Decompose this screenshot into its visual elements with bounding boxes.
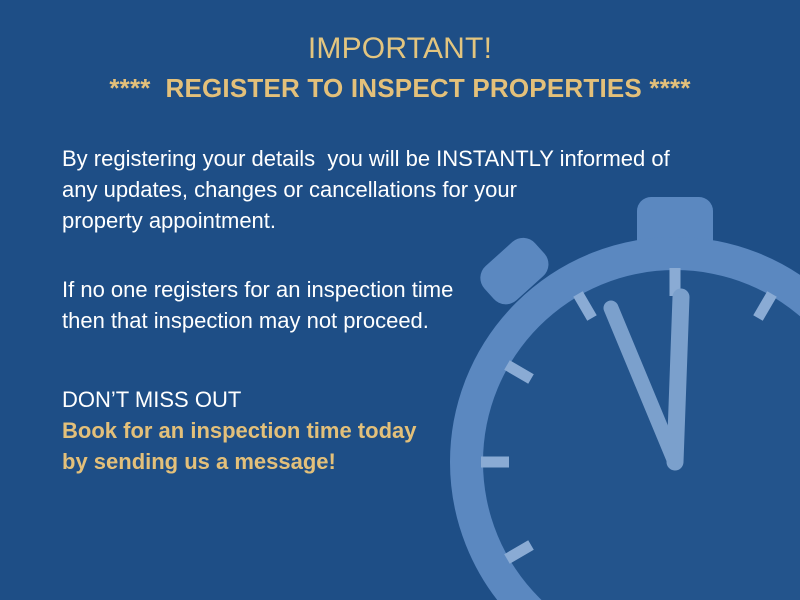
paragraph-line: property appointment.	[62, 205, 722, 236]
paragraph-line: If no one registers for an inspection ti…	[62, 274, 722, 305]
paragraph-no-registration-warning: If no one registers for an inspection ti…	[62, 274, 722, 336]
body-copy: By registering your details you will be …	[62, 143, 722, 477]
paragraph-line: any updates, changes or cancellations fo…	[62, 174, 722, 205]
paragraph-registering-benefits: By registering your details you will be …	[62, 143, 722, 236]
cta-line-message: by sending us a message!	[62, 446, 722, 477]
cta-headline: DON’T MISS OUT	[62, 384, 722, 415]
subtitle-register-banner: **** REGISTER TO INSPECT PROPERTIES ****	[0, 68, 800, 108]
paragraph-spacer	[62, 368, 722, 384]
heading-block: IMPORTANT! **** REGISTER TO INSPECT PROP…	[0, 30, 800, 108]
slide-canvas: IMPORTANT! **** REGISTER TO INSPECT PROP…	[0, 0, 800, 600]
paragraph-line: then that inspection may not proceed.	[62, 305, 722, 336]
page-title: IMPORTANT!	[0, 30, 800, 68]
call-to-action-block: DON’T MISS OUT Book for an inspection ti…	[62, 384, 722, 477]
cta-line-book: Book for an inspection time today	[62, 415, 722, 446]
paragraph-line: By registering your details you will be …	[62, 143, 722, 174]
